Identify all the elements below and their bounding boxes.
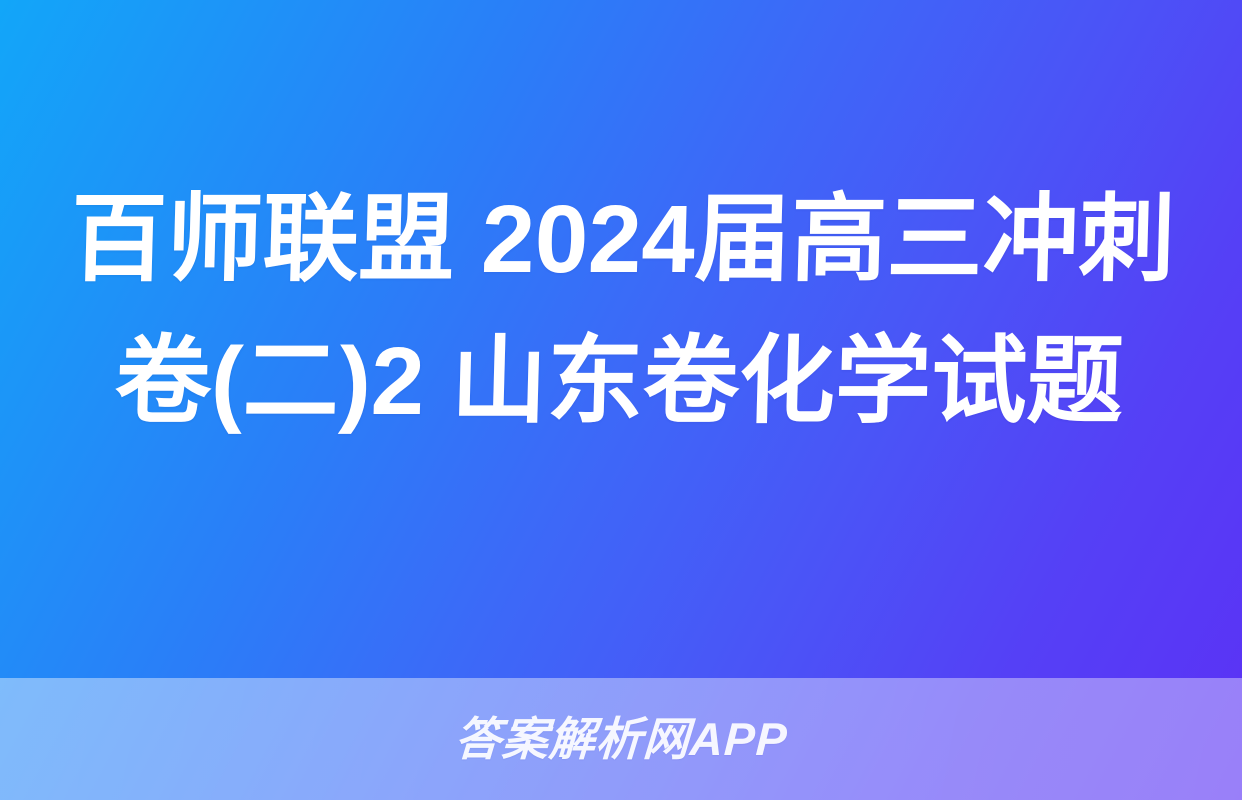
poster-canvas: 百师联盟 2024届高三冲刺卷(二)2 山东卷化学试题 答案解析网APP [0, 0, 1242, 800]
footer-watermark-band: 答案解析网APP [0, 678, 1242, 800]
page-title: 百师联盟 2024届高三冲刺卷(二)2 山东卷化学试题 [64, 169, 1177, 453]
app-watermark-label: 答案解析网APP [453, 716, 788, 762]
title-area: 百师联盟 2024届高三冲刺卷(二)2 山东卷化学试题 [0, 0, 1242, 678]
